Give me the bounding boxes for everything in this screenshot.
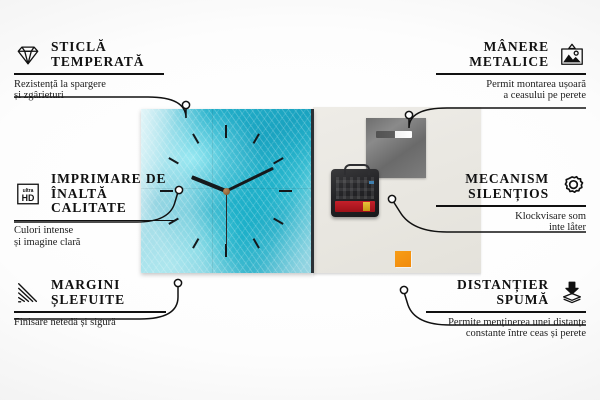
callout-description: Permit montarea ușoară a ceasului pe per… (436, 79, 586, 102)
mechanism-bail (344, 164, 370, 175)
callout-description: Rezistență la spargere și zgârieturi (14, 79, 164, 102)
callout-description: Klockvisare som inte låter (436, 211, 586, 234)
callout-divider (14, 73, 164, 75)
callout-title: MÂNERE METALICE (469, 40, 549, 69)
hanging-frame-icon (558, 42, 586, 68)
callout-description: Permite menținerea unei distanțe constan… (426, 317, 586, 340)
callout-header: MECANISM SILENȚIOS (436, 172, 586, 201)
battery (335, 201, 375, 212)
callout-metal-handles: MÂNERE METALICE Permit montarea ușoară a… (436, 40, 586, 102)
callout-silent-mechanism: MECANISM SILENȚIOS Klockvisare som inte … (436, 172, 586, 234)
callout-title: STICLĂ TEMPERATĂ (51, 40, 144, 69)
foam-spacer-part (395, 251, 411, 267)
callout-header: MÂNERE METALICE (436, 40, 586, 69)
callout-foam-spacer: DISTANȚIER SPUMĂ Permite menținerea unei… (426, 278, 586, 340)
ultra-hd-icon: ultra HD (14, 181, 42, 207)
callout-description: Culori intense și imagine clară (14, 225, 174, 248)
clock-hand-second (226, 191, 227, 246)
callout-title: MECANISM SILENȚIOS (465, 172, 549, 201)
callout-title: MARGINI ȘLEFUITE (51, 278, 125, 307)
leader-dot-polished-edges (174, 279, 181, 286)
polished-edges-icon (14, 280, 42, 306)
callout-header: STICLĂ TEMPERATĂ (14, 40, 164, 69)
press-down-icon (558, 280, 586, 306)
callout-divider (426, 311, 586, 313)
diamond-icon (14, 42, 42, 68)
callout-polished-edges: MARGINI ȘLEFUITE Finisare netedă și sigu… (14, 278, 166, 328)
callout-description: Finisare netedă și sigură (14, 317, 166, 329)
gear-icon (558, 174, 586, 200)
callout-title: IMPRIMARE DE ÎNALTĂ CALITATE (51, 172, 174, 216)
callout-header: MARGINI ȘLEFUITE (14, 278, 166, 307)
callout-divider (14, 220, 174, 222)
callout-title: DISTANȚIER SPUMĂ (457, 278, 549, 307)
callout-divider (436, 73, 586, 75)
leader-dot-foam-spacer (400, 286, 407, 293)
callout-high-quality-print: ultra HD IMPRIMARE DE ÎNALTĂ CALITATE Cu… (14, 172, 174, 248)
product-photo (141, 107, 481, 279)
clock-mechanism (331, 169, 379, 217)
hanger-slot (376, 131, 412, 138)
callout-header: DISTANȚIER SPUMĂ (426, 278, 586, 307)
mechanism-indicator (369, 181, 374, 184)
infographic-canvas: STICLĂ TEMPERATĂ Rezistență la spargere … (0, 0, 600, 400)
hour-tick (226, 190, 292, 192)
hour-tick (225, 125, 227, 191)
clock-center-cap (223, 188, 230, 195)
callout-header: ultra HD IMPRIMARE DE ÎNALTĂ CALITATE (14, 172, 174, 216)
callout-tempered-glass: STICLĂ TEMPERATĂ Rezistență la spargere … (14, 40, 164, 102)
callout-divider (14, 311, 166, 313)
callout-divider (436, 205, 586, 207)
svg-text:HD: HD (22, 193, 35, 203)
